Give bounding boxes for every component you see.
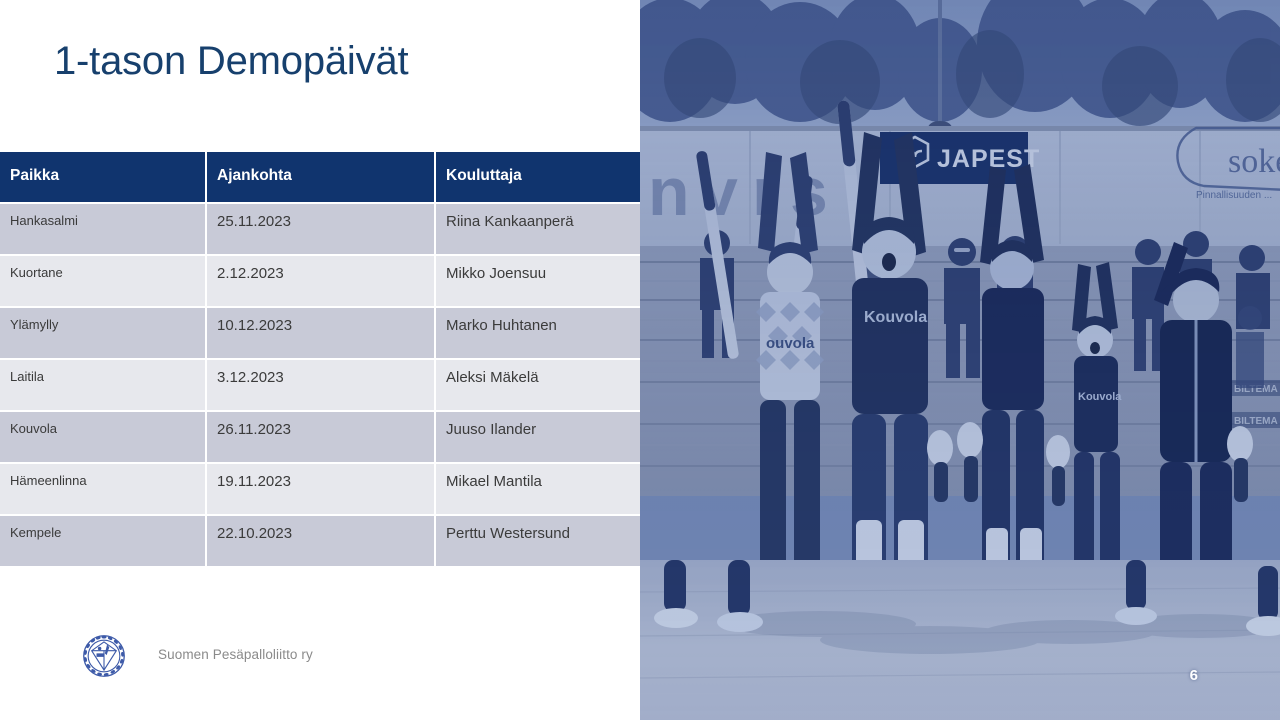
svg-text:soke: soke bbox=[1228, 143, 1280, 180]
table-row: Kuortane 2.12.2023 Mikko Joensuu bbox=[0, 256, 640, 308]
table-row: Laitila 3.12.2023 Aleksi Mäkelä bbox=[0, 360, 640, 412]
table-header: Paikka Ajankohta Kouluttaja bbox=[0, 152, 640, 204]
column-header-paikka: Paikka bbox=[0, 152, 207, 204]
hero-photo: n v r s JAPEST soke Pinnallisuuden ... bbox=[640, 0, 1280, 720]
cell-ajankohta: 19.11.2023 bbox=[207, 464, 436, 516]
svg-text:Kouvola: Kouvola bbox=[1078, 391, 1122, 403]
cell-paikka: Kuortane bbox=[0, 256, 207, 308]
svg-text:n: n bbox=[648, 154, 690, 230]
cell-paikka: Ylämylly bbox=[0, 308, 207, 360]
slide-footer: Suomen Pesäpalloliitto ry bbox=[0, 624, 640, 720]
cell-kouluttaja: Perttu Westersund bbox=[436, 516, 640, 568]
table-row: Kouvola 26.11.2023 Juuso Ilander bbox=[0, 412, 640, 464]
cell-kouluttaja: Mikael Mantila bbox=[436, 464, 640, 516]
schedule-table: Paikka Ajankohta Kouluttaja Hankasalmi 2… bbox=[0, 152, 640, 568]
svg-text:Pinnallisuuden ...: Pinnallisuuden ... bbox=[1196, 190, 1272, 201]
cell-kouluttaja: Juuso Ilander bbox=[436, 412, 640, 464]
svg-text:BILTEMA: BILTEMA bbox=[1234, 416, 1278, 427]
cell-kouluttaja: Riina Kankaanperä bbox=[436, 204, 640, 256]
schedule-table-container: Paikka Ajankohta Kouluttaja Hankasalmi 2… bbox=[0, 152, 640, 568]
cell-kouluttaja: Aleksi Mäkelä bbox=[436, 360, 640, 412]
table-header-row: Paikka Ajankohta Kouluttaja bbox=[0, 152, 640, 204]
cell-kouluttaja: Mikko Joensuu bbox=[436, 256, 640, 308]
table-row: Hämeenlinna 19.11.2023 Mikael Mantila bbox=[0, 464, 640, 516]
cell-paikka: Kempele bbox=[0, 516, 207, 568]
cell-ajankohta: 2.12.2023 bbox=[207, 256, 436, 308]
cell-paikka: Hankasalmi bbox=[0, 204, 207, 256]
cell-ajankohta: 22.10.2023 bbox=[207, 516, 436, 568]
column-header-kouluttaja: Kouluttaja bbox=[436, 152, 640, 204]
column-header-ajankohta: Ajankohta bbox=[207, 152, 436, 204]
table-row: Kempele 22.10.2023 Perttu Westersund bbox=[0, 516, 640, 568]
svg-text:ouvola: ouvola bbox=[766, 335, 815, 352]
page-number: 6 bbox=[1190, 667, 1198, 684]
left-content-pane: 1-tason Demopäivät Paikka Ajankohta Koul… bbox=[0, 0, 640, 720]
footer-organization-label: Suomen Pesäpalloliitto ry bbox=[158, 647, 313, 662]
cell-paikka: Laitila bbox=[0, 360, 207, 412]
cell-kouluttaja: Marko Huhtanen bbox=[436, 308, 640, 360]
cell-ajankohta: 10.12.2023 bbox=[207, 308, 436, 360]
slide: 1-tason Demopäivät Paikka Ajankohta Koul… bbox=[0, 0, 1280, 720]
cell-ajankohta: 26.11.2023 bbox=[207, 412, 436, 464]
cell-ajankohta: 3.12.2023 bbox=[207, 360, 436, 412]
cell-ajankohta: 25.11.2023 bbox=[207, 204, 436, 256]
cell-paikka: Hämeenlinna bbox=[0, 464, 207, 516]
pesapalloliitto-crest-icon bbox=[82, 634, 126, 678]
cell-paikka: Kouvola bbox=[0, 412, 207, 464]
table-row: Hankasalmi 25.11.2023 Riina Kankaanperä bbox=[0, 204, 640, 256]
svg-text:Kouvola: Kouvola bbox=[864, 309, 927, 326]
table-body: Hankasalmi 25.11.2023 Riina Kankaanperä … bbox=[0, 204, 640, 568]
table-row: Ylämylly 10.12.2023 Marko Huhtanen bbox=[0, 308, 640, 360]
page-title: 1-tason Demopäivät bbox=[54, 38, 408, 84]
